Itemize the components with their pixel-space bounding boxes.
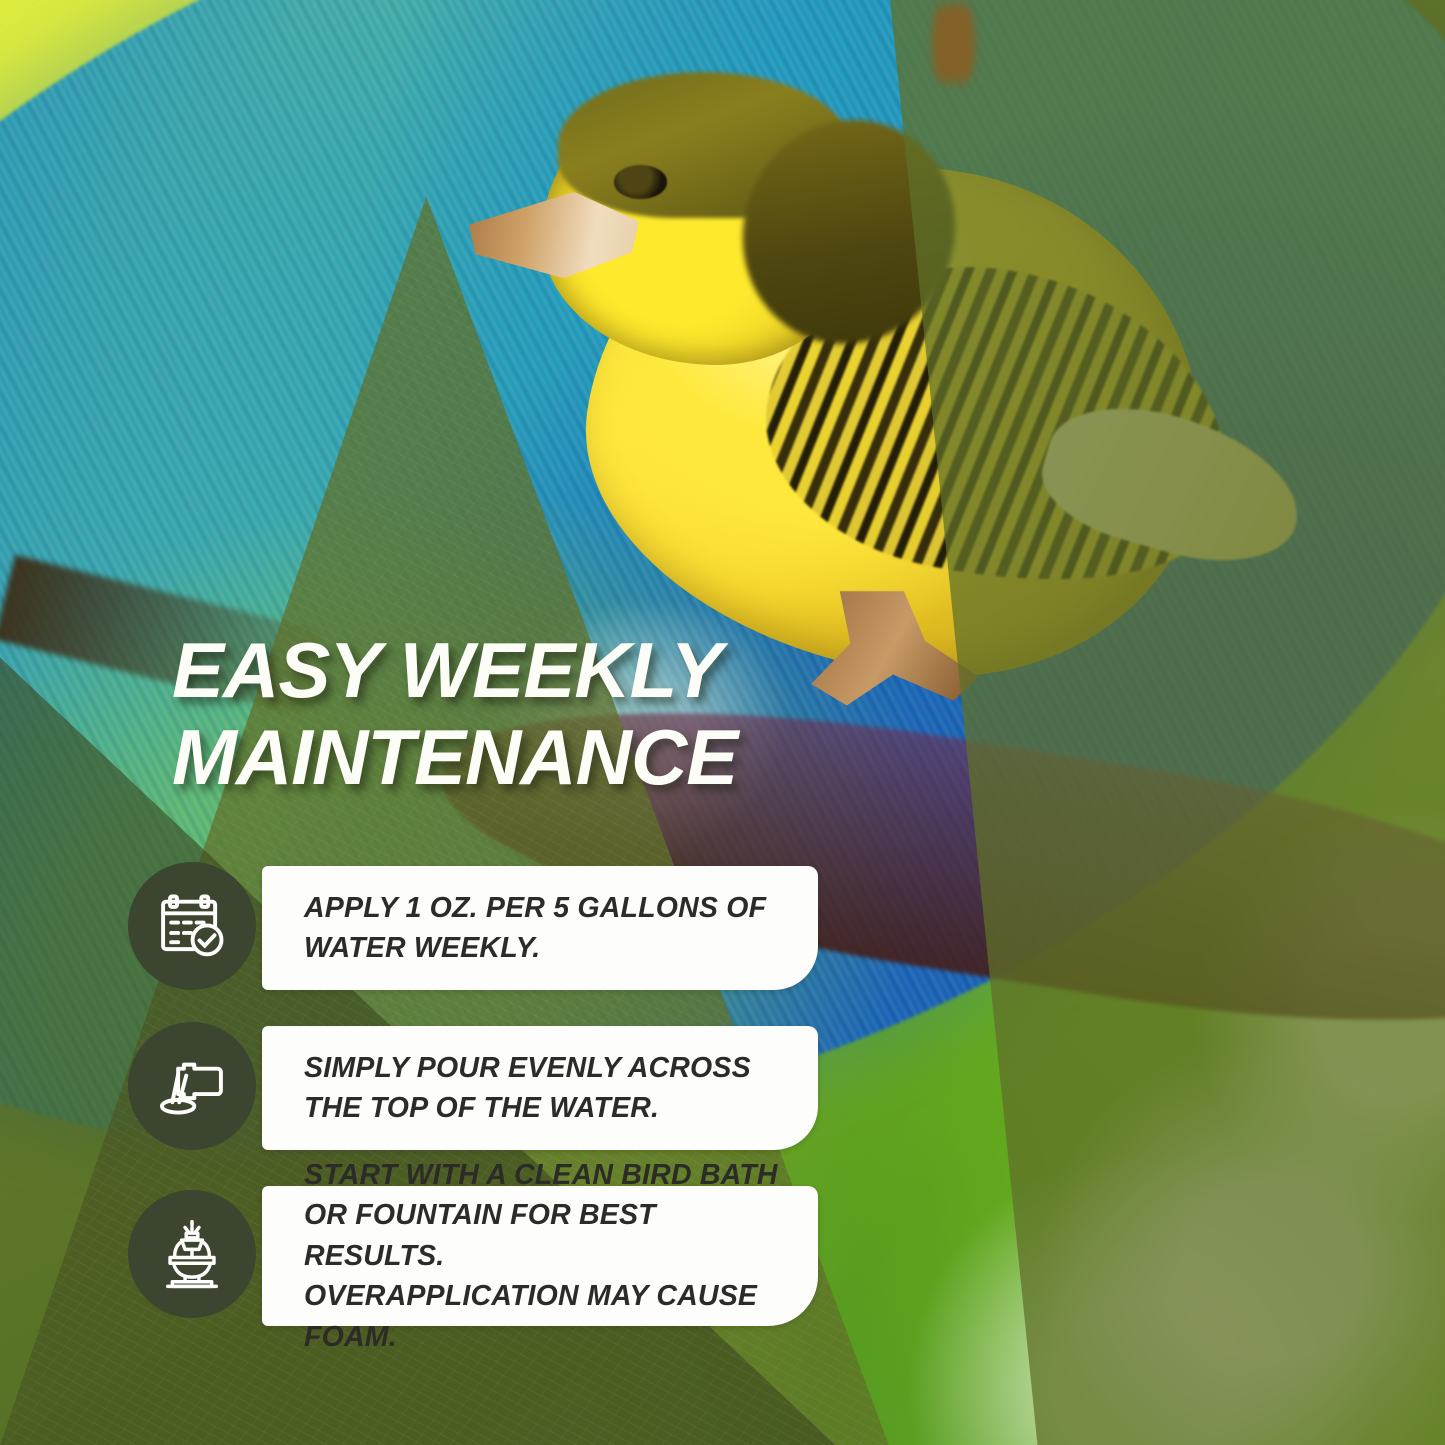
bird-eye bbox=[614, 165, 667, 198]
list-item: APPLY 1 OZ. PER 5 GALLONS OF WATER WEEKL… bbox=[0, 862, 1445, 994]
instruction-text: APPLY 1 OZ. PER 5 GALLONS OF WATER WEEKL… bbox=[304, 888, 766, 969]
list-item: START WITH A CLEAN BIRD BATH OR FOUNTAIN… bbox=[0, 1182, 1445, 1330]
page-title: EASY WEEKLY MAINTENANCE bbox=[172, 627, 872, 802]
instruction-list: APPLY 1 OZ. PER 5 GALLONS OF WATER WEEKL… bbox=[0, 862, 1445, 1358]
product-feature-image: EASY WEEKLY MAINTENANCE APPLY 1 OZ. PER … bbox=[0, 0, 1445, 1445]
instruction-text: SIMPLY POUR EVENLY ACROSS THE TOP OF THE… bbox=[304, 1048, 751, 1129]
calendar-check-icon bbox=[128, 862, 256, 990]
instruction-text: START WITH A CLEAN BIRD BATH OR FOUNTAIN… bbox=[304, 1155, 796, 1357]
headline-line-1: EASY WEEKLY bbox=[172, 627, 872, 714]
instruction-pill: SIMPLY POUR EVENLY ACROSS THE TOP OF THE… bbox=[262, 1026, 818, 1150]
pouring-bottle-icon bbox=[128, 1022, 256, 1150]
list-item: SIMPLY POUR EVENLY ACROSS THE TOP OF THE… bbox=[0, 1022, 1445, 1154]
fountain-icon bbox=[128, 1190, 256, 1318]
instruction-pill: APPLY 1 OZ. PER 5 GALLONS OF WATER WEEKL… bbox=[262, 866, 818, 990]
headline-line-2: MAINTENANCE bbox=[172, 714, 872, 801]
instruction-pill: START WITH A CLEAN BIRD BATH OR FOUNTAIN… bbox=[262, 1186, 818, 1326]
